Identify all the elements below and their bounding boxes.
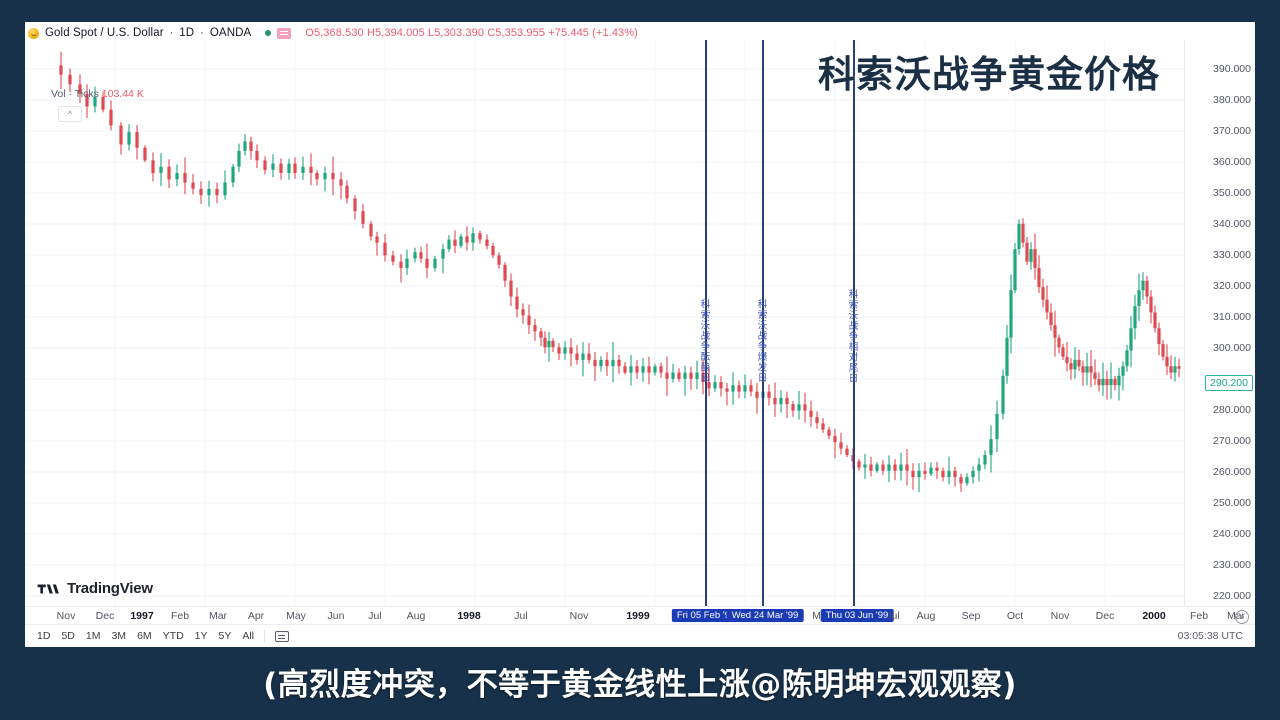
time-tick: Dec: [96, 610, 115, 622]
range-1m[interactable]: 1M: [86, 630, 101, 642]
symbol-exchange[interactable]: OANDA: [210, 27, 251, 39]
volume-indicator-value: 103.44 K: [102, 88, 144, 100]
collapse-pane-button[interactable]: ^: [58, 106, 82, 122]
symbol-title[interactable]: Gold Spot / U.S. Dollar: [45, 27, 164, 39]
tradingview-logo-icon: [37, 582, 61, 596]
time-scale[interactable]: Nov Dec 1997 Feb Mar Apr May Jun Jul Aug…: [25, 606, 1255, 625]
headline-overlay: 科索沃战争黄金价格: [818, 44, 1160, 98]
price-tick: 350.000: [1213, 187, 1251, 199]
price-tick: 300.000: [1213, 342, 1251, 354]
price-tick: 250.000: [1213, 497, 1251, 509]
ohlc-open-value: 5,368.530: [314, 27, 364, 39]
price-tick: 280.000: [1213, 404, 1251, 416]
settings-bars-icon[interactable]: [277, 28, 291, 39]
tradingview-watermark: TradingView: [37, 580, 153, 597]
tradingview-watermark-text: TradingView: [67, 580, 153, 597]
event-label-3: 科索沃战争相对尾日: [847, 289, 857, 384]
ohlc-high-value: 5,394.005: [375, 27, 425, 39]
range-selector: 1D 5D 1M 3M 6M YTD 1Y 5Y All: [25, 630, 254, 642]
price-tick: 240.000: [1213, 528, 1251, 540]
price-tick: 370.000: [1213, 125, 1251, 137]
candlestick-svg: [25, 40, 1185, 607]
range-5y[interactable]: 5Y: [219, 630, 232, 642]
ohlc-change: +75.445 (+1.43%): [548, 27, 638, 39]
time-tick: Nov: [57, 610, 76, 622]
price-tick: 340.000: [1213, 218, 1251, 230]
event-label-1: 科索沃战争酝酿日: [699, 299, 709, 383]
event-label-2: 科索沃战争爆发日: [756, 299, 766, 383]
volume-indicator-name: Vol · Ticks: [51, 88, 99, 100]
tradingview-chart-window: Gold Spot / U.S. Dollar · 1D · OANDA O5,…: [25, 22, 1255, 647]
calendar-icon[interactable]: [275, 630, 289, 642]
time-tick: Jul: [368, 610, 381, 622]
price-tick: 260.000: [1213, 466, 1251, 478]
price-tick: 380.000: [1213, 94, 1251, 106]
price-scale[interactable]: 390.000 380.000 370.000 360.000 350.000 …: [1184, 40, 1255, 607]
candle-series: [59, 52, 1180, 492]
ohlc-values: O5,368.530 H5,394.005 L5,303.390 C5,353.…: [305, 27, 638, 39]
range-6m[interactable]: 6M: [137, 630, 152, 642]
symbol-interval[interactable]: 1D: [179, 27, 194, 39]
caption-overlay: (高烈度冲突，不等于黄金线性上涨@陈明坤宏观观察): [0, 648, 1280, 714]
current-price-badge: 290.200: [1205, 375, 1253, 391]
time-tick: Nov: [570, 610, 589, 622]
time-tick: 1999: [626, 610, 649, 622]
range-1y[interactable]: 1Y: [195, 630, 208, 642]
price-tick: 360.000: [1213, 156, 1251, 168]
screenshot-root: Gold Spot / U.S. Dollar · 1D · OANDA O5,…: [0, 0, 1280, 720]
toolbar-divider: [264, 630, 265, 642]
price-tick: 310.000: [1213, 311, 1251, 323]
time-tick: Feb: [1190, 610, 1208, 622]
time-tick: Oct: [1007, 610, 1023, 622]
ohlc-open-label: O: [305, 27, 314, 39]
ohlc-high-label: H: [367, 27, 375, 39]
time-tick: Aug: [407, 610, 426, 622]
price-tick: 220.000: [1213, 590, 1251, 602]
price-tick: 270.000: [1213, 435, 1251, 447]
market-status-icon: [265, 30, 271, 36]
symbol-separator-1: ·: [170, 27, 174, 39]
time-tick: Jun: [328, 610, 345, 622]
time-tick: 1998: [457, 610, 480, 622]
time-tick: 2000: [1142, 610, 1165, 622]
time-tick: Nov: [1051, 610, 1070, 622]
clock-label: 03:05:38 UTC: [1178, 630, 1255, 642]
range-ytd[interactable]: YTD: [163, 630, 184, 642]
time-tick: Jul: [886, 610, 899, 622]
time-tick: May: [286, 610, 306, 622]
range-5d[interactable]: 5D: [61, 630, 74, 642]
ohlc-low-value: 5,303.390: [434, 27, 484, 39]
range-3m[interactable]: 3M: [111, 630, 126, 642]
time-tick: Dec: [1096, 610, 1115, 622]
range-1d[interactable]: 1D: [37, 630, 50, 642]
time-mark-event-2[interactable]: Wed 24 Mar '99: [727, 609, 804, 622]
price-tick: 320.000: [1213, 280, 1251, 292]
ohlc-close-value: 5,353.955: [495, 27, 545, 39]
symbol-bar: Gold Spot / U.S. Dollar · 1D · OANDA O5,…: [25, 22, 1255, 42]
chart-plot-area[interactable]: [25, 40, 1185, 607]
symbol-separator-2: ·: [200, 27, 204, 39]
time-tick: Feb: [171, 610, 189, 622]
time-tick: Aug: [917, 610, 936, 622]
time-tick: Mar: [209, 610, 227, 622]
time-tick: 1997: [130, 610, 153, 622]
time-tick: Apr: [248, 610, 264, 622]
gold-coin-icon: [28, 28, 39, 39]
range-all[interactable]: All: [242, 630, 254, 642]
price-tick: 390.000: [1213, 63, 1251, 75]
volume-indicator-legend[interactable]: Vol · Ticks 103.44 K: [51, 88, 144, 100]
time-tick: Sep: [962, 610, 981, 622]
time-mark-event-3[interactable]: Thu 03 Jun '99: [821, 609, 894, 622]
price-tick: 230.000: [1213, 559, 1251, 571]
reset-chart-icon[interactable]: [1235, 610, 1249, 624]
price-tick: 330.000: [1213, 249, 1251, 261]
bottom-toolbar: 1D 5D 1M 3M 6M YTD 1Y 5Y All 03:05:38 UT…: [25, 624, 1255, 647]
time-tick: Jul: [514, 610, 527, 622]
